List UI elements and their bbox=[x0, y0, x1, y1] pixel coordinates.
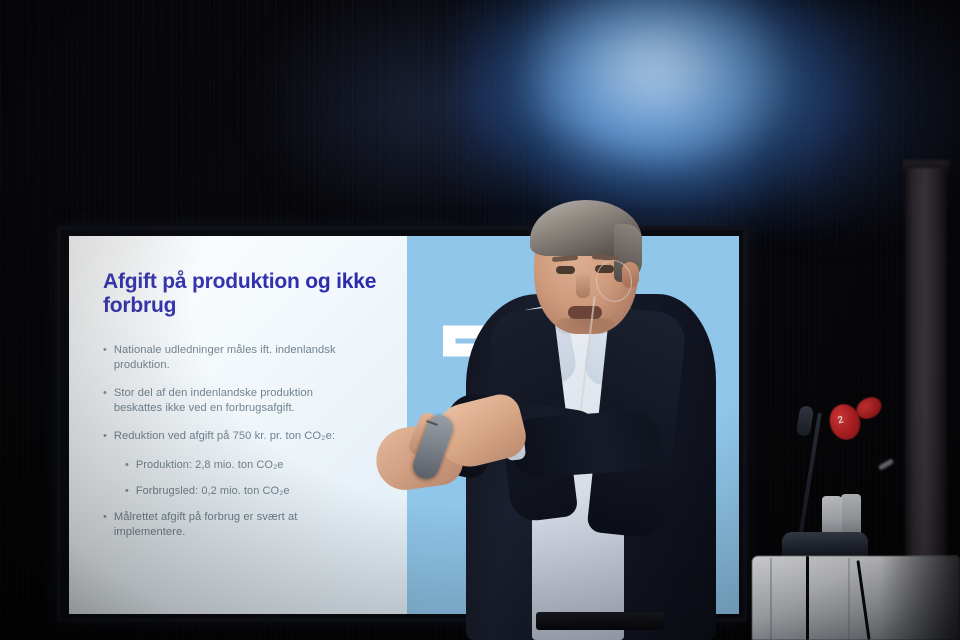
list-item: • Forbrugsled: 0,2 mio. ton CO₂e bbox=[125, 484, 385, 499]
table-shadow bbox=[880, 556, 960, 640]
bullet-text: Målrettet afgift på forbrug er svært at … bbox=[114, 510, 352, 539]
arm-left bbox=[508, 409, 662, 479]
bullet-text: Forbrugsled: 0,2 mio. ton CO₂e bbox=[136, 484, 290, 499]
list-item: • Nationale udledninger måles ift. inden… bbox=[103, 343, 385, 372]
bullet-dot-icon: • bbox=[103, 510, 107, 525]
chin-shadow bbox=[556, 318, 614, 334]
list-item: • Stor del af den indenlandske produktio… bbox=[103, 386, 385, 415]
slide-bullet-list: • Nationale udledninger måles ift. inden… bbox=[103, 343, 385, 540]
photo-scene: Afgift på produktion og ikke forbrug • N… bbox=[0, 0, 960, 640]
tablecloth-fold bbox=[848, 558, 850, 640]
bullet-dot-icon: • bbox=[103, 386, 107, 401]
nose bbox=[576, 272, 590, 298]
list-item: • Målrettet afgift på forbrug er svært a… bbox=[103, 510, 385, 539]
bullet-dot-icon: • bbox=[103, 343, 107, 358]
audio-cable bbox=[806, 556, 809, 640]
list-item: • Reduktion ved afgift på 750 kr. pr. to… bbox=[103, 429, 385, 444]
slide-title: Afgift på produktion og ikke forbrug bbox=[103, 270, 385, 317]
bullet-text: Stor del af den indenlandske produktion … bbox=[114, 386, 352, 415]
bullet-dot-icon: • bbox=[125, 458, 129, 473]
tablecloth-fold bbox=[770, 558, 772, 640]
belt bbox=[536, 612, 664, 630]
bullet-dot-icon: • bbox=[125, 484, 129, 499]
microphone-base bbox=[782, 532, 868, 558]
bullet-dot-icon: • bbox=[103, 429, 107, 444]
spotlight-core bbox=[520, 0, 790, 160]
bullet-text: Nationale udledninger måles ift. indenla… bbox=[114, 343, 352, 372]
slide-text-panel: Afgift på produktion og ikke forbrug • N… bbox=[69, 236, 407, 614]
eye-left bbox=[556, 266, 575, 274]
bullet-text: Produktion: 2,8 mio. ton CO₂e bbox=[136, 458, 284, 473]
speaker-figure bbox=[400, 214, 760, 640]
bullet-text: Reduktion ved afgift på 750 kr. pr. ton … bbox=[114, 429, 335, 444]
list-item: • Produktion: 2,8 mio. ton CO₂e bbox=[125, 458, 385, 473]
